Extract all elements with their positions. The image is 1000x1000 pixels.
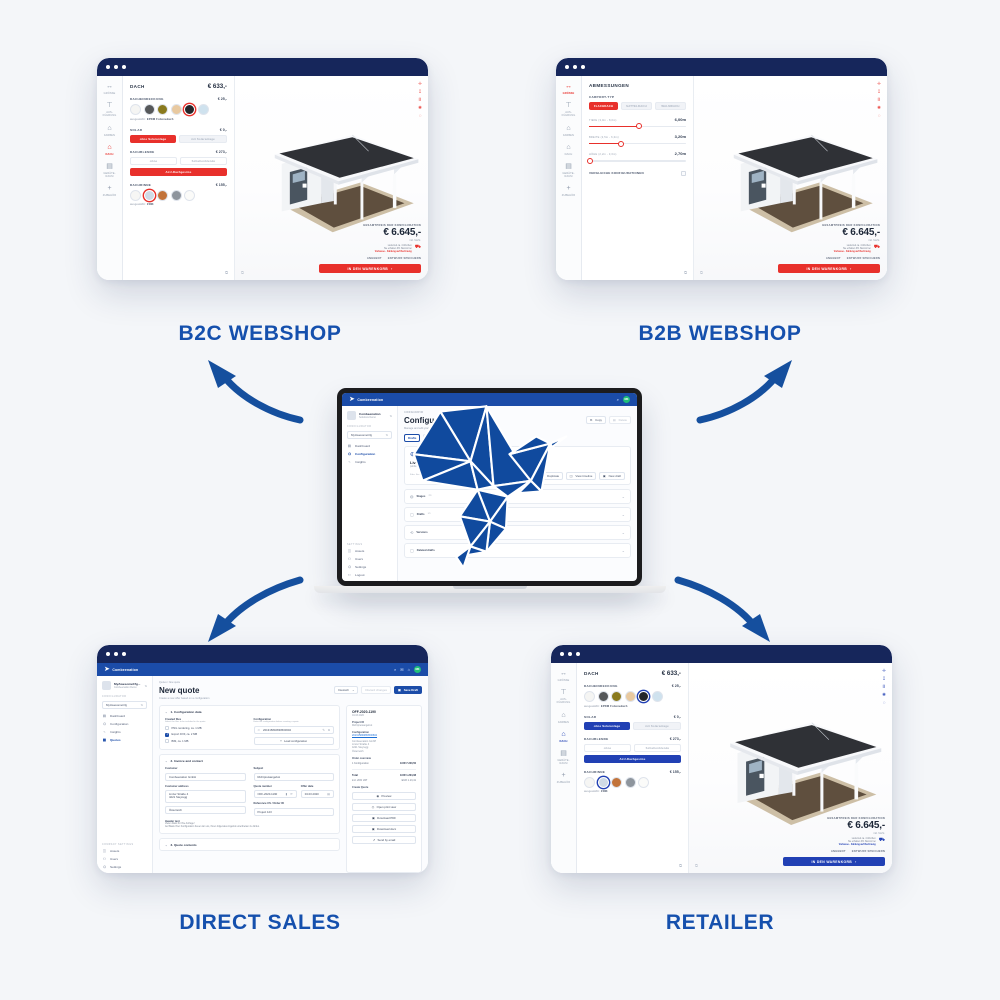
laptop-mockup: ➤ Combeenation ⌕ MK Combeenation — [337, 388, 642, 593]
configurator-app: ↔ GRÖSSE ⊤ AUS-FÜHRUNG ⌂ FARBEN ⌂ DACH ▤ — [556, 76, 887, 280]
rail-item-farben[interactable]: ⌂ FARBEN — [551, 712, 576, 724]
group-label: SOLAR — [584, 715, 596, 719]
window-dot — [114, 652, 118, 656]
sidebar-item-dashboard[interactable]: ▤ Dashboard — [102, 714, 147, 718]
total-row: Total EUR 1.204,08 — [352, 774, 416, 777]
sidebar-item-dashboard[interactable]: ▤ Dashboard — [347, 444, 392, 448]
quote-form: Quotes / New quote New quote Create a ne… — [153, 676, 428, 873]
chevron-updown-icon: ⇅ — [389, 414, 392, 418]
delete-button[interactable]: ▤ Delete — [609, 416, 631, 424]
dashboard-icon: ▤ — [347, 444, 352, 448]
size-arrows-icon: ↔ — [565, 83, 572, 91]
alu-dachgesims-button[interactable]: ALU-Dachgesims — [130, 168, 227, 176]
secondary-actions: ANGEBOT ENTWURF SPEICHERN — [319, 257, 421, 260]
option-group-dachrinne: DACHRINNE € 155,- ausgewählt: ZINK — [130, 183, 227, 207]
assets-icon: ◫ — [347, 549, 352, 553]
rail-label: GERÄTE-RAUM — [557, 759, 569, 765]
subject-input[interactable]: Richtpreisangebot — [254, 773, 335, 781]
chevron-down-icon: ⌄ — [622, 494, 625, 499]
org-avatar — [102, 681, 111, 690]
window-dot — [581, 65, 585, 69]
pdf-icon: ▣ — [372, 816, 375, 820]
roof-icon: ⌂ — [561, 731, 565, 739]
roof-icon: ⌂ — [566, 144, 570, 152]
panel-price: € 633,- — [662, 670, 681, 677]
swatch-option[interactable] — [611, 777, 622, 788]
paint-bucket-icon: ⌂ — [566, 125, 570, 133]
price-note: inkl. MwSt. — [783, 832, 885, 835]
sidebar-nav-bottom: ◫ Assets ⚇ Users ⛭ Settings — [347, 549, 392, 577]
secondary-actions: ANGEBOT ENTWURF SPEICHERN — [783, 850, 885, 853]
storage-room-icon: ▤ — [560, 750, 567, 758]
swatch-option[interactable] — [598, 691, 609, 702]
screenshot-icon[interactable]: ⧉ — [225, 270, 228, 275]
shipping-info: Lieferzeit ca. 4 Wochen Sie erhalten 3% … — [319, 245, 421, 254]
swatch-option[interactable] — [171, 104, 182, 115]
sidebar-item-users[interactable]: ⚇ Users — [102, 857, 147, 861]
angebot-button[interactable]: ANGEBOT — [367, 257, 382, 260]
caption-prefix: ausgewählt: — [130, 203, 146, 206]
brand-logo[interactable]: ➤ Combeenation — [349, 396, 383, 403]
save-draft-button[interactable]: ENTWURF SPEICHERN — [388, 257, 421, 260]
rail-item-dach[interactable]: ⌂ DACH — [551, 731, 576, 743]
swatch-option[interactable] — [130, 104, 141, 115]
cart-label: IN DEN WARENKORB — [806, 267, 847, 271]
screenshot-icon[interactable]: ⧉ — [241, 270, 244, 275]
option-group-dacheindeckung: DACHEINDECKUNG € 25,- ausgewählt: EPDM F… — [584, 684, 681, 708]
rail-label: DACH — [565, 153, 573, 156]
carport-3d-viewport[interactable]: ✛ ↧ ⌷ ✺ ◌ + — [694, 76, 887, 280]
print-icon: ⎙ — [372, 805, 374, 809]
brand-logo[interactable]: ➤ Combeenation — [104, 666, 138, 673]
option-group-solar: SOLAR € 0,- ohne Solaranlage mit Solaran… — [584, 715, 681, 730]
rail-item-zubehoer[interactable]: + ZUBEHÖR — [556, 185, 581, 197]
segment-option[interactable]: WALMDACH — [655, 102, 686, 110]
slider-value: 2,70m — [675, 151, 686, 156]
window-dot — [576, 652, 580, 656]
swatch-option[interactable] — [638, 777, 649, 788]
segment-option[interactable]: SATTELDACH — [621, 102, 652, 110]
group-price: € 25,- — [218, 97, 227, 101]
slider-label: HÖHE — [589, 153, 597, 156]
checkbox[interactable] — [165, 739, 169, 743]
open-print-view-button[interactable]: ⎙ Open print view — [352, 803, 416, 811]
window-dot — [122, 652, 126, 656]
ship-line-2: Sie erhalten 3% Skonto bei — [843, 248, 871, 250]
window-titlebar — [97, 645, 428, 663]
add-to-cart-button[interactable]: IN DEN WARENKORB › — [319, 264, 421, 273]
sidebar-item-configuration[interactable]: ⛭ Configuration — [347, 452, 392, 456]
ship-line-1: Lieferzeit ca. 4 Wochen — [847, 245, 871, 247]
shipping-info: Lieferzeit ca. 4 Wochen Sie erhalten 3% … — [778, 245, 880, 254]
compare-checkbox[interactable] — [681, 171, 686, 176]
sidebar-item-users[interactable]: ⚇ Users — [347, 557, 392, 561]
caption-value: ZINK — [601, 790, 608, 793]
configuration-link[interactable]: 201315840830500602 — [352, 734, 416, 737]
segment-option[interactable]: mit Solaranlage — [633, 722, 681, 730]
field-hint: Select the files to be included in the q… — [165, 721, 246, 724]
screenshot-icon[interactable]: ⧉ — [684, 270, 687, 275]
swatch-option[interactable] — [144, 104, 155, 115]
reference-input[interactable]: Project 123 — [254, 808, 335, 816]
admin-sidebar: Combeenation Solutions Demo ⇅ CONFIGURAT… — [342, 406, 398, 581]
section-title[interactable]: ⌄ 1. Configuration data — [165, 710, 334, 714]
configurator-options-panel: DACH € 633,- DACHEINDECKUNG € 25,- — [577, 663, 689, 873]
slider-header: TIEFE (3,0m - 8,0m) 6,00m — [589, 117, 686, 122]
swatch-option[interactable] — [157, 104, 168, 115]
page-title: DACH — [584, 671, 599, 676]
rail-item-ausfuehrung[interactable]: ⊤ AUS-FÜHRUNG — [97, 102, 122, 117]
order-overview-title: Order overview — [352, 757, 416, 760]
offer-date-input[interactable]: 04.03.2020 ▤ — [301, 790, 334, 798]
slider-header: HÖHE (2,2m - 3,0m) 2,70m — [589, 151, 686, 156]
caption-prefix: ausgewählt: — [584, 705, 600, 708]
swatch-caption: ausgewählt: ZINK — [130, 203, 227, 206]
copy-icon[interactable]: ⧉ — [328, 728, 330, 732]
segment-option[interactable]: ohne — [584, 744, 631, 752]
delivery-truck-icon: ⛟ — [415, 245, 421, 250]
swatch-option[interactable] — [652, 691, 663, 702]
rail-item-dach[interactable]: ⌂ DACH — [556, 144, 581, 156]
rail-item-geraeteraum[interactable]: ▤ GERÄTE-RAUM — [97, 163, 122, 178]
angebot-button[interactable]: ANGEBOT — [826, 257, 841, 260]
channel-label-b2b: B2B WEBSHOP — [620, 322, 820, 346]
storage-room-icon: ▤ — [106, 163, 113, 171]
search-icon[interactable]: ⌕ — [394, 667, 396, 672]
brand-name: Combeenation — [357, 398, 383, 402]
post-column-icon: ⊤ — [560, 689, 566, 697]
checkbox[interactable] — [165, 726, 169, 730]
header-text-value[interactable]: Vielen Dank für Ihre Anfrage! Auf Basis … — [165, 823, 334, 829]
swatch-option[interactable] — [130, 190, 141, 201]
input-value: OFF-2020-1190 — [258, 792, 278, 796]
customer-address-input[interactable]: Linzer Straße 4 4221 Steyregg — [165, 790, 246, 803]
add-to-cart-button[interactable]: IN DEN WARENKORB › — [783, 857, 885, 866]
slider-tiefe: TIEFE (3,0m - 8,0m) 6,00m — [589, 117, 686, 127]
button-label: Load configuration — [284, 739, 307, 743]
ruler-icon[interactable]: ⌷ — [419, 98, 422, 103]
swatch-option[interactable] — [611, 691, 622, 702]
group-price: € 155,- — [216, 183, 227, 187]
arrow-to-b2c — [196, 358, 308, 432]
post-column-icon: ⊤ — [106, 102, 112, 110]
save-icon: ▣ — [398, 688, 401, 692]
carport-3d-viewport[interactable]: ✛ ↧ ⌷ ✺ ◌ + — [235, 76, 428, 280]
rail-item-zubehoer[interactable]: + ZUBEHÖR — [551, 772, 576, 784]
option-group-dacheindeckung: DACHEINDECKUNG € 25,- ausgewählt: EPDM F… — [130, 97, 227, 121]
organisation-switcher[interactable]: Combeenation Solutions Demo ⇅ — [347, 411, 392, 420]
organisation-switcher[interactable]: MyAwesomeCfg... Combeenation Demo ⇅ — [102, 681, 147, 690]
channel-label-b2c: B2C WEBSHOP — [160, 322, 360, 346]
laptop-screen: ➤ Combeenation ⌕ MK Combeenation — [342, 393, 637, 581]
segment-option[interactable]: ohne — [130, 157, 177, 165]
avatar[interactable]: MK — [414, 666, 421, 673]
rail-item-ausfuehrung[interactable]: ⊤ AUS-FÜHRUNG — [556, 102, 581, 117]
sidebar-item-insights[interactable]: ⌁ Insights — [102, 730, 147, 734]
swatch-option[interactable] — [157, 190, 168, 201]
move-icon[interactable]: ↧ — [418, 90, 422, 95]
nav-label: Configuration — [355, 452, 375, 456]
rail-label: FARBEN — [563, 134, 574, 137]
section-title[interactable]: ⌄ 3. Quote contents — [165, 843, 334, 847]
swatch-option-selected[interactable] — [144, 190, 155, 201]
plus-icon: + — [107, 185, 111, 193]
quote-number-label: Quote number — [254, 785, 297, 788]
configuration-field: Configuration Enter the configuration be… — [254, 718, 335, 746]
chevron-down-icon: ⌄ — [622, 548, 625, 553]
cart-label: IN DEN WARENKORB — [811, 860, 852, 864]
sidebar-item-settings[interactable]: ⛭ Settings — [347, 565, 392, 569]
chevron-down-icon: ⌄ — [622, 530, 625, 535]
button-label: Copy — [595, 418, 602, 422]
swatch-caption: ausgewählt: ZINK — [584, 790, 681, 793]
rail-item-farben[interactable]: ⌂ FARBEN — [97, 125, 122, 137]
configuration-id-input[interactable]: ⊂ 201315840830500602 ✎ ⧉ — [254, 726, 335, 734]
country-input[interactable]: Österreich — [165, 806, 246, 814]
chevron-down-icon: ⌄ — [165, 843, 168, 847]
cart-label: IN DEN WARENKORB — [347, 267, 388, 271]
copy-button[interactable]: ⧉ Copy — [586, 416, 606, 424]
compare-label: VERGLEICHE KONFIGURATIONEN — [589, 171, 644, 175]
rail-label: AUS-FÜHRUNG — [103, 111, 117, 117]
bell-icon[interactable]: ⌂ — [408, 667, 410, 672]
ruler-icon[interactable]: ⌷ — [878, 98, 881, 103]
rail-label: ZUBEHÖR — [562, 194, 575, 197]
panel-price: € 633,- — [208, 83, 227, 90]
swatch-option[interactable] — [625, 691, 636, 702]
configurator-select[interactable]: MyAwesomeCfg ⇅ — [102, 701, 147, 709]
rail-label: ZUBEHÖR — [103, 194, 116, 197]
section-label: 2. Invoice and contact — [171, 759, 203, 763]
slider-track[interactable] — [589, 160, 686, 161]
group-header: CARPORT-TYP — [589, 95, 686, 99]
file-checkbox-bim[interactable]: BIM, ca. 1 MB — [165, 739, 246, 743]
swatch-option[interactable] — [584, 777, 595, 788]
logout-icon: ⇦ — [347, 573, 352, 577]
create-quote-title: Create Quote — [352, 786, 416, 789]
load-configuration-button[interactable]: ⤒ Load configuration — [254, 737, 335, 745]
group-label: CARPORT-TYP — [589, 95, 614, 99]
angebot-button[interactable]: ANGEBOT — [831, 850, 846, 853]
section-title[interactable]: ⌄ 2. Invoice and contact — [165, 759, 334, 763]
button-label: Save Draft — [404, 688, 418, 692]
swatch-option-selected[interactable] — [638, 691, 649, 702]
sidebar-item-configuration[interactable]: ⛭ Configuration — [102, 722, 147, 726]
shipping-text: Lieferzeit ca. 4 Wochen Sie erhalten 3% … — [375, 245, 412, 254]
group-header: DACHRINNE € 155,- — [584, 770, 681, 774]
swatch-option[interactable] — [625, 777, 636, 788]
option-group-dachblende: DACHBLENDE € 273,- ohne Schattenblende A… — [584, 737, 681, 763]
screenshot-icon[interactable]: ⧉ — [700, 270, 703, 275]
rail-label: AUS-FÜHRUNG — [557, 698, 571, 704]
option-group-solar: SOLAR € 0,- ohne Solaranlage mit Solaran… — [130, 128, 227, 143]
window-dot — [114, 65, 118, 69]
help-icon[interactable]: ⌕ — [617, 397, 619, 402]
preview-button[interactable]: ◉ Preview — [352, 792, 416, 800]
segment-option[interactable]: mit Solaranlage — [179, 135, 227, 143]
panel-header: ABMESSUNGEN — [589, 83, 686, 88]
segment-option[interactable]: Schattenblende — [634, 744, 681, 752]
rail-item-farben[interactable]: ⌂ FARBEN — [556, 125, 581, 137]
page-title: New quote — [159, 686, 209, 695]
new-draft-button[interactable]: ▣ New draft — [599, 472, 625, 480]
window-retailer: ↔ GRÖSSE ⊤ AUS-FÜHRUNG ⌂ FARBEN ⌂ DACH ▤ — [551, 645, 892, 873]
screenshot-icon[interactable]: ⧉ — [695, 863, 698, 868]
option-group-dachblende: DACHBLENDE € 273,- ohne Schattenblende A… — [130, 150, 227, 176]
refresh-icon[interactable]: ⟳ — [290, 792, 293, 796]
vat-value: EUR 1.13,41 — [402, 779, 416, 782]
configurator-select[interactable]: MyAwesomeCfg ⇅ — [347, 431, 392, 439]
laptop-base — [314, 586, 666, 593]
rotate-icon[interactable]: ✛ — [882, 669, 886, 674]
file-checkbox-png[interactable]: PNG rendering, ca. 1 MB — [165, 726, 246, 730]
chevron-down-icon: ⌄ — [622, 512, 625, 517]
nav-label: Settings — [110, 865, 121, 869]
lock-icon[interactable]: ▮ — [286, 792, 288, 796]
delivery-truck-icon: ⛟ — [874, 245, 880, 250]
total-price: € 6.645,- — [778, 227, 880, 239]
storage-room-icon: ▤ — [565, 163, 572, 171]
address-line-2: 4221 Steyregg — [169, 796, 187, 799]
rail-item-groesse[interactable]: ↔ GRÖSSE — [97, 83, 122, 95]
button-label: Download docx — [377, 827, 396, 831]
header-text-line-2: Auf Basis Ihrer Konfiguration freuen wir… — [165, 826, 334, 829]
swatch-option[interactable] — [171, 190, 182, 201]
sidebar-item-assets[interactable]: ◫ Assets — [102, 849, 147, 853]
customer-country: Österreich — [352, 750, 416, 753]
project-id-value: Richtpreisangebot — [352, 724, 416, 727]
rail-item-zubehoer[interactable]: + ZUBEHÖR — [97, 185, 122, 197]
price-summary: GESAMTPREIS DER KONFIGURATION € 6.645,- … — [778, 224, 880, 273]
rail-item-groesse[interactable]: ↔ GRÖSSE — [556, 83, 581, 95]
rail-item-dach[interactable]: ⌂ DACH — [97, 144, 122, 156]
file-checkbox-dxf[interactable]: Export DXF, ca. 2 MB — [165, 733, 246, 737]
ruler-icon[interactable]: ⌷ — [883, 685, 886, 690]
configurator-options-panel: DACH € 633,- DACHEINDECKUNG € 25,- — [123, 76, 235, 280]
origami-bird-logo — [401, 405, 579, 570]
chevron-updown-icon: ⇅ — [140, 703, 143, 707]
calendar-icon[interactable]: ▤ — [327, 792, 330, 796]
window-dot — [560, 652, 564, 656]
language-select[interactable]: Deutsch ⌄ — [334, 686, 358, 694]
configurator-app: ↔ GRÖSSE ⊤ AUS-FÜHRUNG ⌂ FARBEN ⌂ DACH ▤ — [97, 76, 428, 280]
segment-selected[interactable]: FLACHDACH — [589, 102, 618, 110]
compare-configurations-row[interactable]: VERGLEICHE KONFIGURATIONEN — [589, 171, 686, 176]
rail-label: DACH — [560, 740, 568, 743]
group-price: € 155,- — [670, 770, 681, 774]
download-pdf-button[interactable]: ▣ Download PDF — [352, 814, 416, 822]
slider-track[interactable] — [589, 126, 686, 127]
group-header: DACHBLENDE € 273,- — [584, 737, 681, 741]
move-icon[interactable]: ↧ — [877, 90, 881, 95]
save-draft-button[interactable]: ▣ Save Draft — [394, 686, 422, 694]
diagram-canvas: ↔ GRÖSSE ⊤ AUS-FÜHRUNG ⌂ FARBEN ⌂ DACH ▤ — [0, 0, 1000, 1000]
sidebar-bottom-caption: SETTINGS — [347, 544, 392, 546]
rail-label: GRÖSSE — [563, 92, 575, 95]
total-label: Total — [352, 774, 358, 777]
swatch-option-selected[interactable] — [598, 777, 609, 788]
alu-dachgesims-button[interactable]: ALU-Dachgesims — [584, 755, 681, 763]
swatch-caption: ausgewählt: EPDM Folienedach — [130, 118, 227, 121]
page-header: New quote Create a new offer based on a … — [159, 686, 422, 700]
customer-input[interactable]: Combeenation GmbH — [165, 773, 246, 781]
avatar[interactable]: MK — [623, 396, 630, 403]
send-by-email-button[interactable]: ⇗ Send by email — [352, 836, 416, 844]
reference-label: Reference CS / Order ID — [254, 802, 335, 805]
segment-selected[interactable]: ohne Solaranlage — [584, 722, 630, 730]
save-draft-button[interactable]: ENTWURF SPEICHERN — [847, 257, 880, 260]
select-value: MyAwesomeCfg — [351, 433, 372, 437]
rail-item-geraeteraum[interactable]: ▤ GERÄTE-RAUM — [551, 750, 576, 765]
group-label: DACHRINNE — [584, 770, 605, 774]
slider-track[interactable] — [589, 143, 686, 144]
swatch-row — [130, 104, 227, 115]
field-hint: Enter the configuration before creating … — [254, 721, 335, 724]
sidebar-item-assets[interactable]: ◫ Assets — [347, 549, 392, 553]
sidebar-item-settings[interactable]: ⛭ Settings — [102, 865, 147, 869]
carport-3d-viewport[interactable]: ✛ ↧ ⌷ ✺ ◌ + — [689, 663, 892, 873]
admin-quote-app: ➤ Combeenation ⌕ ✉ ⌂ MK My — [97, 663, 428, 873]
group-header: SOLAR € 0,- — [584, 715, 681, 719]
segment-row: FLACHDACH SATTELDACH WALMDACH — [589, 102, 686, 110]
swatch-option[interactable] — [198, 104, 209, 115]
discard-changes-button[interactable]: Discard changes — [361, 686, 391, 694]
vat-row: incl. 20% VAT EUR 1.13,41 — [352, 779, 416, 782]
page-title: ABMESSUNGEN — [589, 83, 629, 88]
screenshot-icon[interactable]: ⧉ — [679, 863, 682, 868]
group-label: DACHBLENDE — [130, 150, 154, 154]
nav-label: Dashboard — [355, 444, 370, 448]
rail-item-geraeteraum[interactable]: ▤ GERÄTE-RAUM — [556, 163, 581, 178]
swatch-option[interactable] — [184, 190, 195, 201]
segment-selected[interactable]: ohne Solaranlage — [130, 135, 176, 143]
swatch-caption: ausgewählt: EPDM Folienedach — [584, 705, 681, 708]
configurator-app: ↔ GRÖSSE ⊤ AUS-FÜHRUNG ⌂ FARBEN ⌂ DACH ▤ — [551, 663, 892, 873]
nav-label: Settings — [355, 565, 366, 569]
rotate-icon[interactable]: ✛ — [877, 82, 881, 87]
mail-icon[interactable]: ✉ — [400, 667, 403, 672]
input-value: 04.03.2020 — [305, 792, 319, 796]
rotate-icon[interactable]: ✛ — [418, 82, 422, 87]
save-draft-button[interactable]: ENTWURF SPEICHERN — [852, 850, 885, 853]
checkbox-checked[interactable] — [165, 733, 169, 737]
overview-amount: EUR 7.220,50 — [400, 762, 416, 765]
users-icon: ⚇ — [102, 857, 107, 861]
quote-number-input[interactable]: OFF-2020-1190 ▮ ⟳ — [254, 790, 297, 798]
section-invoice-contact: ⌄ 2. Invoice and contact Customer Combee… — [159, 754, 340, 834]
swatch-option-selected[interactable] — [184, 104, 195, 115]
customer-label: Customer — [165, 767, 246, 770]
org-avatar — [347, 411, 356, 420]
download-docx-button[interactable]: ▣ Download docx — [352, 825, 416, 833]
sidebar-item-logout[interactable]: ⇦ Logout — [347, 573, 392, 577]
window-b2c-webshop: ↔ GRÖSSE ⊤ AUS-FÜHRUNG ⌂ FARBEN ⌂ DACH ▤ — [97, 58, 428, 280]
rail-label: ZUBEHÖR — [557, 781, 570, 784]
rail-label: GERÄTE-RAUM — [562, 172, 574, 178]
sidebar-nav-bottom: ◫ Assets ⚇ Users ⛭ Settings — [102, 849, 147, 869]
configurator-step-rail: ↔ GRÖSSE ⊤ AUS-FÜHRUNG ⌂ FARBEN ⌂ DACH ▤ — [97, 76, 123, 280]
nav-label: Assets — [355, 549, 364, 553]
edit-icon[interactable]: ✎ — [322, 728, 325, 732]
swatch-option[interactable] — [584, 691, 595, 702]
rail-item-ausfuehrung[interactable]: ⊤ AUS-FÜHRUNG — [551, 689, 576, 704]
add-to-cart-button[interactable]: IN DEN WARENKORB › — [778, 264, 880, 273]
group-header: SOLAR € 0,- — [130, 128, 227, 132]
segment-option[interactable]: Schattenblende — [180, 157, 227, 165]
nav-label: Users — [355, 557, 363, 561]
move-icon[interactable]: ↧ — [882, 677, 886, 682]
rail-item-groesse[interactable]: ↔ GRÖSSE — [551, 670, 576, 682]
